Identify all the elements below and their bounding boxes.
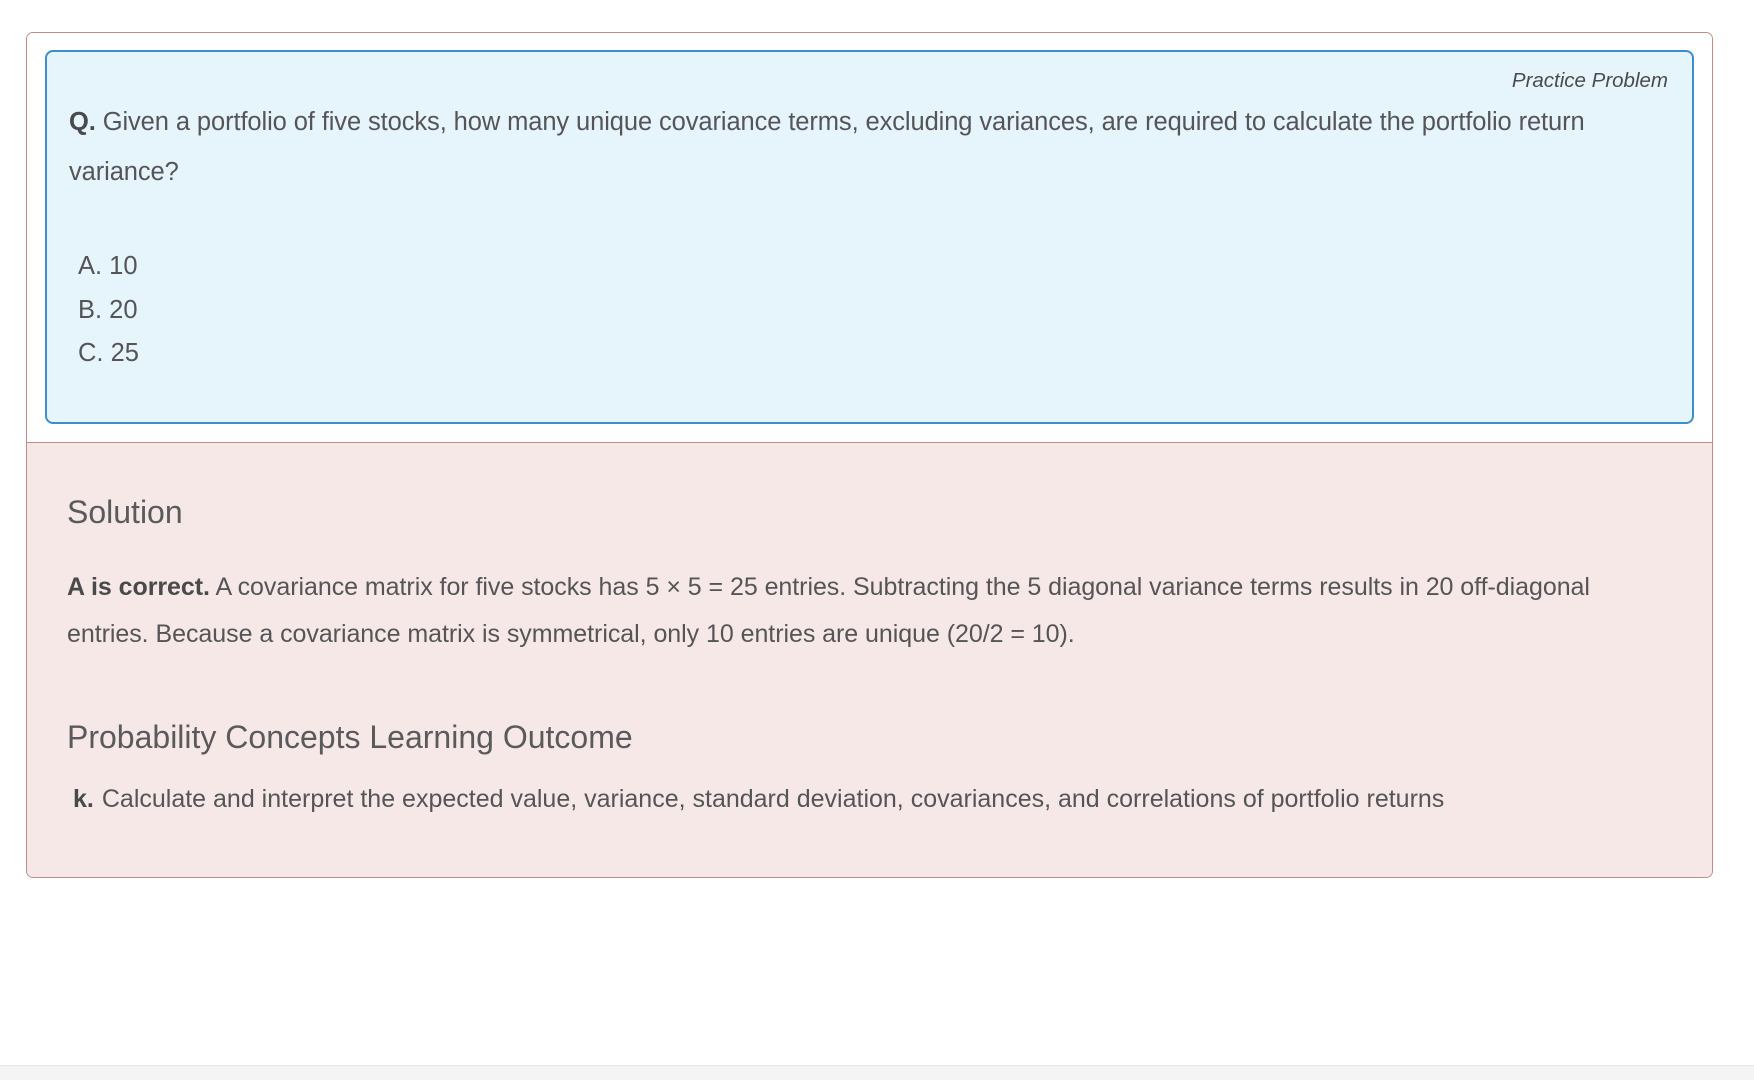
question-body: Given a portfolio of five stocks, how ma…	[69, 108, 1585, 186]
learning-outcome-heading: Probability Concepts Learning Outcome	[67, 720, 1674, 755]
right-gutter	[1744, 0, 1754, 1080]
solution-heading: Solution	[67, 495, 1674, 530]
question-box: Practice Problem Q. Given a portfolio of…	[45, 50, 1694, 424]
learning-outcome-key: k.	[73, 778, 94, 821]
answer-option-c[interactable]: C. 25	[78, 332, 1670, 376]
practice-problem-card: Practice Problem Q. Given a portfolio of…	[26, 32, 1713, 878]
solution-lead: A is correct.	[67, 573, 210, 601]
solution-pane: Solution A is correct. A covariance matr…	[27, 443, 1712, 876]
practice-problem-label: Practice Problem	[69, 66, 1668, 97]
page-root: Practice Problem Q. Given a portfolio of…	[0, 0, 1754, 1080]
solution-body: A is correct. A covariance matrix for fi…	[67, 564, 1674, 658]
solution-explanation: A covariance matrix for five stocks has …	[67, 573, 1590, 648]
learning-outcome-item: k. Calculate and interpret the expected …	[73, 778, 1633, 821]
bottom-strip	[0, 1065, 1754, 1080]
learning-outcome-text: Calculate and interpret the expected val…	[102, 778, 1633, 821]
answer-options: A. 10 B. 20 C. 25	[69, 245, 1670, 377]
answer-option-b[interactable]: B. 20	[78, 289, 1670, 333]
question-text: Q. Given a portfolio of five stocks, how…	[69, 98, 1670, 198]
answer-option-a[interactable]: A. 10	[78, 245, 1670, 289]
question-pane: Practice Problem Q. Given a portfolio of…	[27, 33, 1712, 424]
question-marker: Q.	[69, 108, 96, 136]
